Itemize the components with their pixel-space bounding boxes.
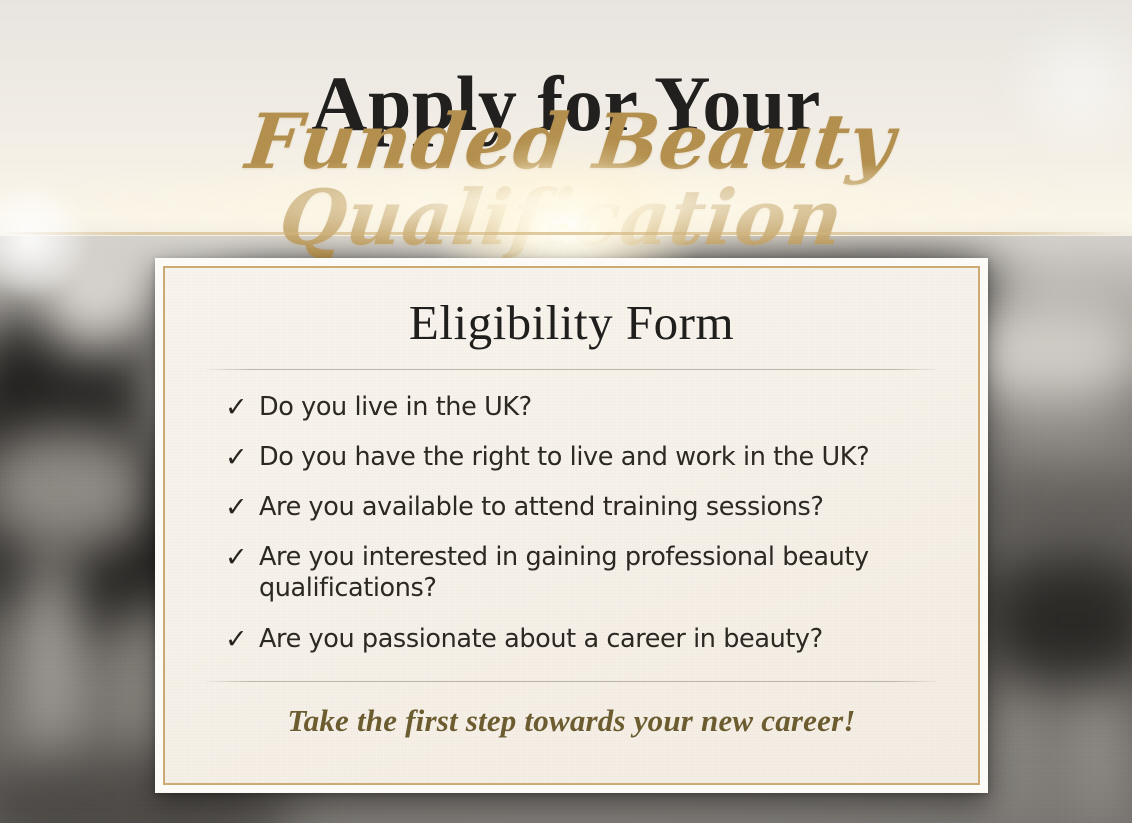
check-icon: ✓ xyxy=(225,492,259,523)
list-item[interactable]: ✓ Do you have the right to live and work… xyxy=(225,442,934,473)
card-divider-top xyxy=(207,369,936,370)
list-item[interactable]: ✓ Are you passionate about a career in b… xyxy=(225,624,934,655)
eligibility-checklist: ✓ Do you live in the UK? ✓ Do you have t… xyxy=(203,392,940,655)
list-item[interactable]: ✓ Are you available to attend training s… xyxy=(225,492,934,523)
list-item-label: Are you available to attend training ses… xyxy=(259,492,934,523)
card-title: Eligibility Form xyxy=(203,294,940,351)
eligibility-card: Eligibility Form ✓ Do you live in the UK… xyxy=(155,258,988,793)
list-item[interactable]: ✓ Are you interested in gaining professi… xyxy=(225,542,934,604)
banner-divider xyxy=(0,232,1132,235)
list-item-label: Do you have the right to live and work i… xyxy=(259,442,934,473)
list-item-label: Do you live in the UK? xyxy=(259,392,934,423)
list-item[interactable]: ✓ Do you live in the UK? xyxy=(225,392,934,423)
list-item-label: Are you passionate about a career in bea… xyxy=(259,624,934,655)
eligibility-card-inner: Eligibility Form ✓ Do you live in the UK… xyxy=(163,266,980,785)
check-icon: ✓ xyxy=(225,442,259,473)
card-divider-bottom xyxy=(207,681,936,682)
check-icon: ✓ xyxy=(225,624,259,655)
card-tagline: Take the first step towards your new car… xyxy=(203,703,940,739)
list-item-label: Are you interested in gaining profession… xyxy=(259,542,934,604)
poster-canvas: Apply for Your Funded Beauty Qualificati… xyxy=(0,0,1132,823)
check-icon: ✓ xyxy=(225,392,259,423)
check-icon: ✓ xyxy=(225,542,259,573)
